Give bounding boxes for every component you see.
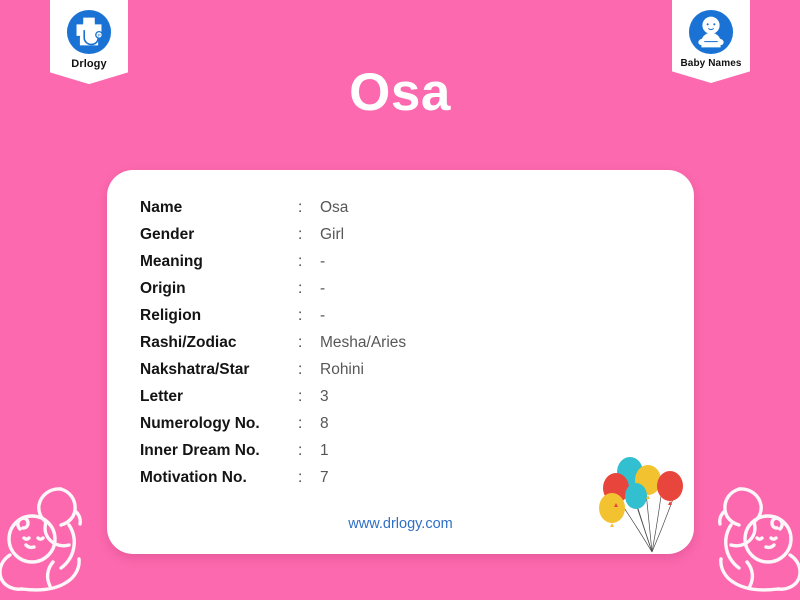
table-row: Inner Dream No. : 1 [140, 437, 600, 464]
table-row: Nakshatra/Star : Rohini [140, 356, 600, 383]
balloons-icon [596, 452, 692, 554]
table-row: Name : Osa [140, 194, 600, 221]
row-separator: : [298, 248, 320, 275]
row-value: 3 [320, 383, 600, 410]
page-title: Osa [0, 66, 800, 119]
row-label: Inner Dream No. [140, 437, 298, 464]
table-row: Letter : 3 [140, 383, 600, 410]
row-value: - [320, 248, 600, 275]
name-details-card: Name : Osa Gender : Girl Meaning : - Ori… [107, 170, 694, 554]
row-value: - [320, 275, 600, 302]
name-info-card-page: P Drlogy Baby Names Osa Name : Osa [0, 0, 800, 600]
row-separator: : [298, 464, 320, 491]
row-label: Name [140, 194, 298, 221]
table-row: Gender : Girl [140, 221, 600, 248]
row-value: Girl [320, 221, 600, 248]
mother-and-baby-icon-right [700, 467, 800, 598]
table-row: Religion : - [140, 302, 600, 329]
row-value: Osa [320, 194, 600, 221]
name-details-table: Name : Osa Gender : Girl Meaning : - Ori… [140, 194, 600, 491]
table-row: Origin : - [140, 275, 600, 302]
row-label: Nakshatra/Star [140, 356, 298, 383]
row-separator: : [298, 329, 320, 356]
row-separator: : [298, 410, 320, 437]
svg-text:P: P [97, 33, 100, 39]
table-row: Rashi/Zodiac : Mesha/Aries [140, 329, 600, 356]
row-separator: : [298, 221, 320, 248]
row-label: Rashi/Zodiac [140, 329, 298, 356]
row-value: - [320, 302, 600, 329]
row-separator: : [298, 437, 320, 464]
row-value: Rohini [320, 356, 600, 383]
table-row: Meaning : - [140, 248, 600, 275]
row-label: Letter [140, 383, 298, 410]
row-separator: : [298, 383, 320, 410]
row-label: Numerology No. [140, 410, 298, 437]
drlogy-medical-cross-doctor-icon: P [66, 9, 112, 55]
row-separator: : [298, 194, 320, 221]
website-link[interactable]: www.drlogy.com [107, 516, 694, 532]
row-value: 8 [320, 410, 600, 437]
row-label: Meaning [140, 248, 298, 275]
table-row: Motivation No. : 7 [140, 464, 600, 491]
row-separator: : [298, 302, 320, 329]
row-label: Religion [140, 302, 298, 329]
row-value: 7 [320, 464, 600, 491]
row-separator: : [298, 356, 320, 383]
row-label: Origin [140, 275, 298, 302]
row-label: Motivation No. [140, 464, 298, 491]
row-value: 1 [320, 437, 600, 464]
table-row: Numerology No. : 8 [140, 410, 600, 437]
row-label: Gender [140, 221, 298, 248]
mother-and-baby-icon-left [0, 467, 100, 598]
baby-icon [688, 9, 734, 55]
row-separator: : [298, 275, 320, 302]
row-value: Mesha/Aries [320, 329, 600, 356]
